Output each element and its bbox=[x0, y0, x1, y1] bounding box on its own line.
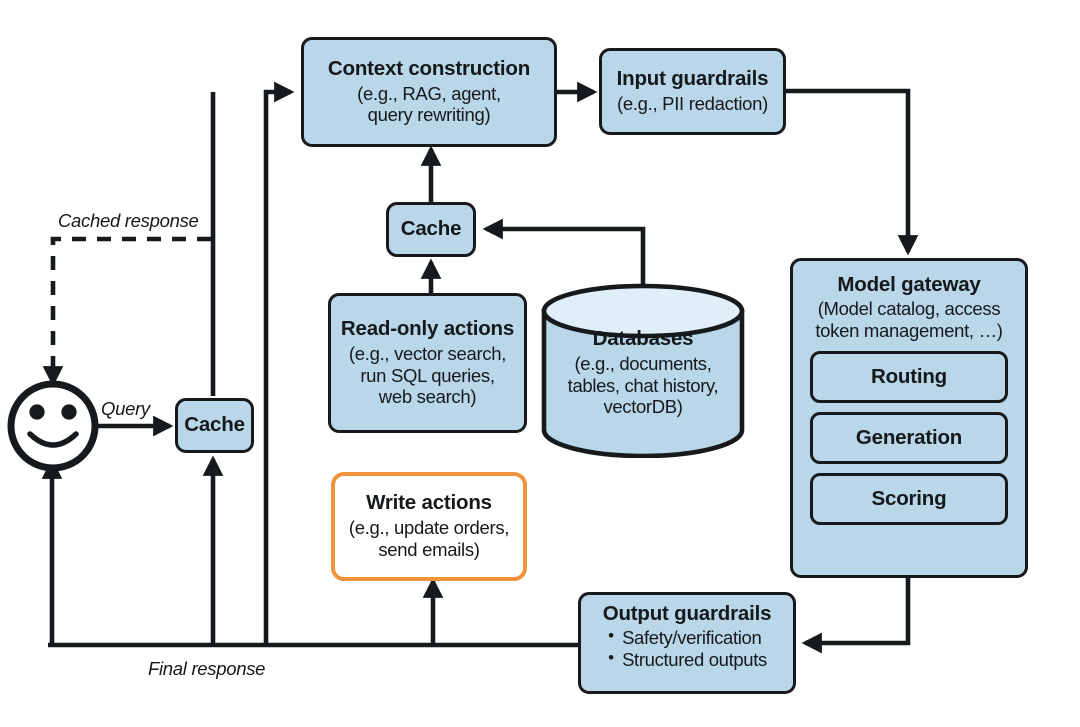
node-title: Context construction bbox=[328, 58, 530, 81]
node-databases-text: Databases (e.g., documents, tables, chat… bbox=[540, 327, 746, 418]
node-title: Model gateway bbox=[837, 274, 980, 297]
node-subtitle: (e.g., PII redaction) bbox=[617, 93, 768, 115]
edge-label-query: Query bbox=[101, 398, 150, 420]
node-databases[interactable]: Databases (e.g., documents, tables, chat… bbox=[540, 283, 746, 458]
node-write-actions[interactable]: Write actions (e.g., update orders, send… bbox=[331, 472, 527, 581]
node-subtitle: (e.g., RAG, agent, query rewriting) bbox=[357, 83, 501, 126]
wire-model-gateway-to-output-guardrails bbox=[805, 578, 908, 643]
bullet-item: Structured outputs bbox=[607, 649, 767, 671]
node-model-gateway[interactable]: Model gateway (Model catalog, access tok… bbox=[790, 258, 1028, 578]
wire-bus-to-context-construction bbox=[266, 92, 291, 645]
model-gateway-capability-list: Routing Generation Scoring bbox=[793, 351, 1025, 525]
node-input-guardrails[interactable]: Input guardrails (e.g., PII redaction) bbox=[599, 48, 786, 135]
node-context-construction[interactable]: Context construction (e.g., RAG, agent, … bbox=[301, 37, 557, 147]
user-smiley-face bbox=[11, 384, 95, 468]
node-cache-top[interactable]: Cache bbox=[386, 202, 476, 257]
node-read-only-actions[interactable]: Read-only actions (e.g., vector search, … bbox=[328, 293, 527, 433]
wire-databases-to-cachetop bbox=[486, 229, 643, 289]
model-gateway-item-routing[interactable]: Routing bbox=[810, 351, 1008, 403]
model-gateway-item-scoring[interactable]: Scoring bbox=[810, 473, 1008, 525]
edge-label-cached-response: Cached response bbox=[58, 210, 199, 232]
node-title: Cache bbox=[184, 414, 245, 437]
item-label: Scoring bbox=[872, 487, 947, 511]
edge-label-final-response: Final response bbox=[148, 658, 265, 680]
node-title: Output guardrails bbox=[603, 603, 772, 626]
node-title: Databases bbox=[540, 327, 746, 351]
node-cache-left[interactable]: Cache bbox=[175, 398, 254, 453]
wire-input-guardrails-to-model-gateway bbox=[786, 91, 908, 252]
item-label: Routing bbox=[871, 365, 947, 389]
wire-cached-response-dashed bbox=[53, 239, 211, 383]
node-title: Cache bbox=[401, 218, 462, 241]
item-label: Generation bbox=[856, 426, 962, 450]
bullet-item: Safety/verification bbox=[607, 627, 767, 649]
node-subtitle: (e.g., vector search, run SQL queries, w… bbox=[349, 343, 506, 408]
node-title: Read-only actions bbox=[341, 318, 514, 341]
model-gateway-item-generation[interactable]: Generation bbox=[810, 412, 1008, 464]
architecture-diagram: Context construction (e.g., RAG, agent, … bbox=[0, 0, 1080, 727]
node-subtitle: (e.g., documents, tables, chat history, … bbox=[540, 353, 746, 418]
node-title: Write actions bbox=[366, 492, 492, 515]
node-title: Input guardrails bbox=[617, 68, 769, 91]
node-subtitle: (Model catalog, access token management,… bbox=[815, 298, 1002, 341]
node-subtitle: (e.g., update orders, send emails) bbox=[349, 517, 509, 560]
node-output-guardrails[interactable]: Output guardrails Safety/verification St… bbox=[578, 592, 796, 694]
output-guardrails-bullets: Safety/verification Structured outputs bbox=[607, 627, 767, 671]
